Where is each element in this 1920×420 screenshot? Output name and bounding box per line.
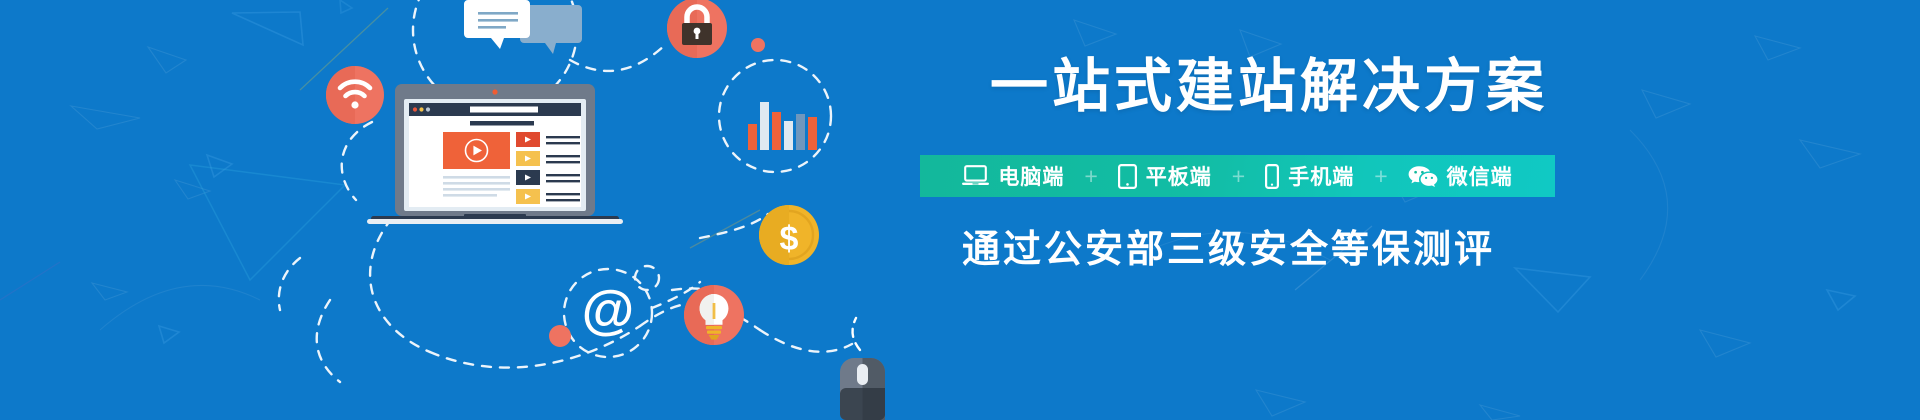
plus-separator-3: + [1364, 165, 1397, 188]
tablet-icon [1118, 164, 1137, 189]
page-subtitle: 通过公安部三级安全等保测评 [962, 228, 1495, 272]
platform-item-mobile[interactable]: 手机端 [1255, 161, 1364, 191]
hero-banner: $ @ [0, 0, 1920, 420]
platform-item-tablet[interactable]: 平板端 [1108, 161, 1222, 191]
platform-label-mobile: 手机端 [1288, 161, 1354, 191]
platform-item-wechat[interactable]: 微信端 [1398, 161, 1523, 191]
platform-label-desktop: 电脑端 [998, 161, 1064, 191]
supported-platforms-bar: 电脑端 + 平板端 + [920, 155, 1555, 197]
accent-dot [549, 325, 571, 347]
hero-content: 一站式建站解决方案 电脑端 + [900, 0, 1920, 420]
plus-separator-1: + [1074, 165, 1107, 188]
svg-text:@: @ [582, 280, 635, 340]
accent-dot [751, 38, 765, 52]
hero-illustration: $ @ [0, 0, 900, 420]
platform-item-desktop[interactable]: 电脑端 [952, 161, 1074, 191]
platform-label-wechat: 微信端 [1447, 161, 1513, 191]
wechat-icon [1408, 164, 1438, 189]
page-title: 一站式建站解决方案 [990, 56, 1548, 118]
platform-label-tablet: 平板端 [1146, 161, 1212, 191]
svg-text:$: $ [780, 220, 799, 258]
laptop-icon [962, 165, 989, 187]
smartphone-icon [1265, 164, 1279, 189]
plus-separator-2: + [1222, 165, 1255, 188]
